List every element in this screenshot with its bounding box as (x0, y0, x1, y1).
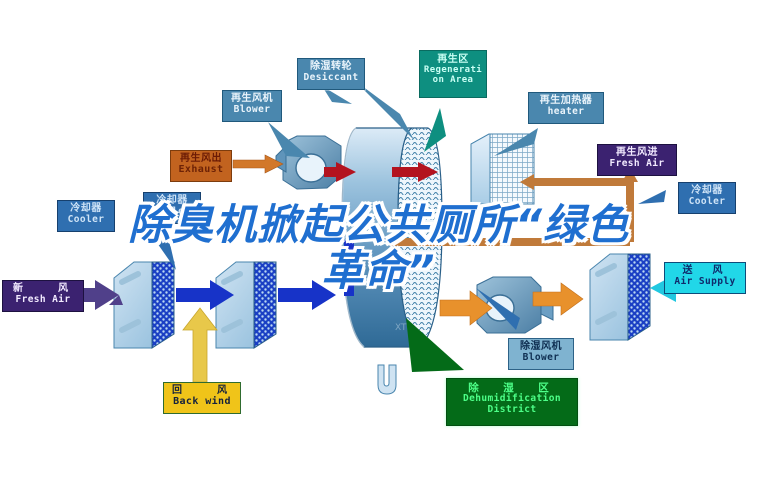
label-fresh-air-in[interactable]: 新 风 Fresh Air (2, 280, 84, 312)
label-regen-blower[interactable]: 再生风机 Blower (222, 90, 282, 122)
arrow-midduct-up (288, 240, 302, 292)
label-cooler-mid[interactable]: 冷却器 Cooler (143, 192, 201, 224)
label-exhaust[interactable]: 再生风出 Exhaust (170, 150, 232, 182)
svg-text:XT: XT (395, 323, 407, 333)
label-regen-area[interactable]: 再生区 Regenerati on Area (419, 50, 487, 98)
label-desiccant-en: Desiccant (298, 73, 364, 83)
label-dehum-district-en2: District (447, 405, 577, 415)
label-dehum-blower-en: Blower (509, 353, 573, 363)
label-regen-blower-en: Blower (223, 105, 281, 115)
label-dehum-blower[interactable]: 除湿风机 Blower (508, 338, 574, 370)
label-fresh-air-in-en: Fresh Air (3, 295, 83, 305)
label-exhaust-en: Exhaust (171, 165, 231, 176)
label-regen-area-en2: on Area (420, 76, 486, 86)
label-back-wind[interactable]: 回 风 Back wind (163, 382, 241, 414)
label-cooler-mid-en: Cooler (144, 207, 200, 217)
label-back-wind-en: Back wind (164, 397, 240, 408)
cooler-unit-3 (590, 254, 650, 340)
label-regen-heater-en: heater (529, 107, 603, 117)
label-air-supply[interactable]: 送 风 Air Supply (664, 262, 746, 294)
label-cooler-left-en: Cooler (58, 215, 114, 225)
label-regen-heater[interactable]: 再生加热器 heater (528, 92, 604, 124)
diagram-graphics: XT (0, 0, 757, 488)
label-desiccant[interactable]: 除湿转轮 Desiccant (297, 58, 365, 90)
label-regen-air-in-en: Fresh Air (598, 159, 676, 169)
label-cooler-right[interactable]: 冷却器 Cooler (678, 182, 736, 214)
label-air-supply-en: Air Supply (665, 277, 745, 287)
label-cooler-left[interactable]: 冷却器 Cooler (57, 200, 115, 232)
arrow-cooler2-out (278, 280, 336, 310)
diagram-canvas: XT (0, 0, 757, 488)
arrow-back-wind-up (183, 308, 217, 382)
label-dehum-district[interactable]: 除 湿 区 Dehumidification District (446, 378, 578, 426)
label-regen-air-in[interactable]: 再生风进 Fresh Air (597, 144, 677, 176)
cooler-unit-2 (216, 262, 276, 348)
label-cooler-right-en: Cooler (679, 197, 735, 207)
